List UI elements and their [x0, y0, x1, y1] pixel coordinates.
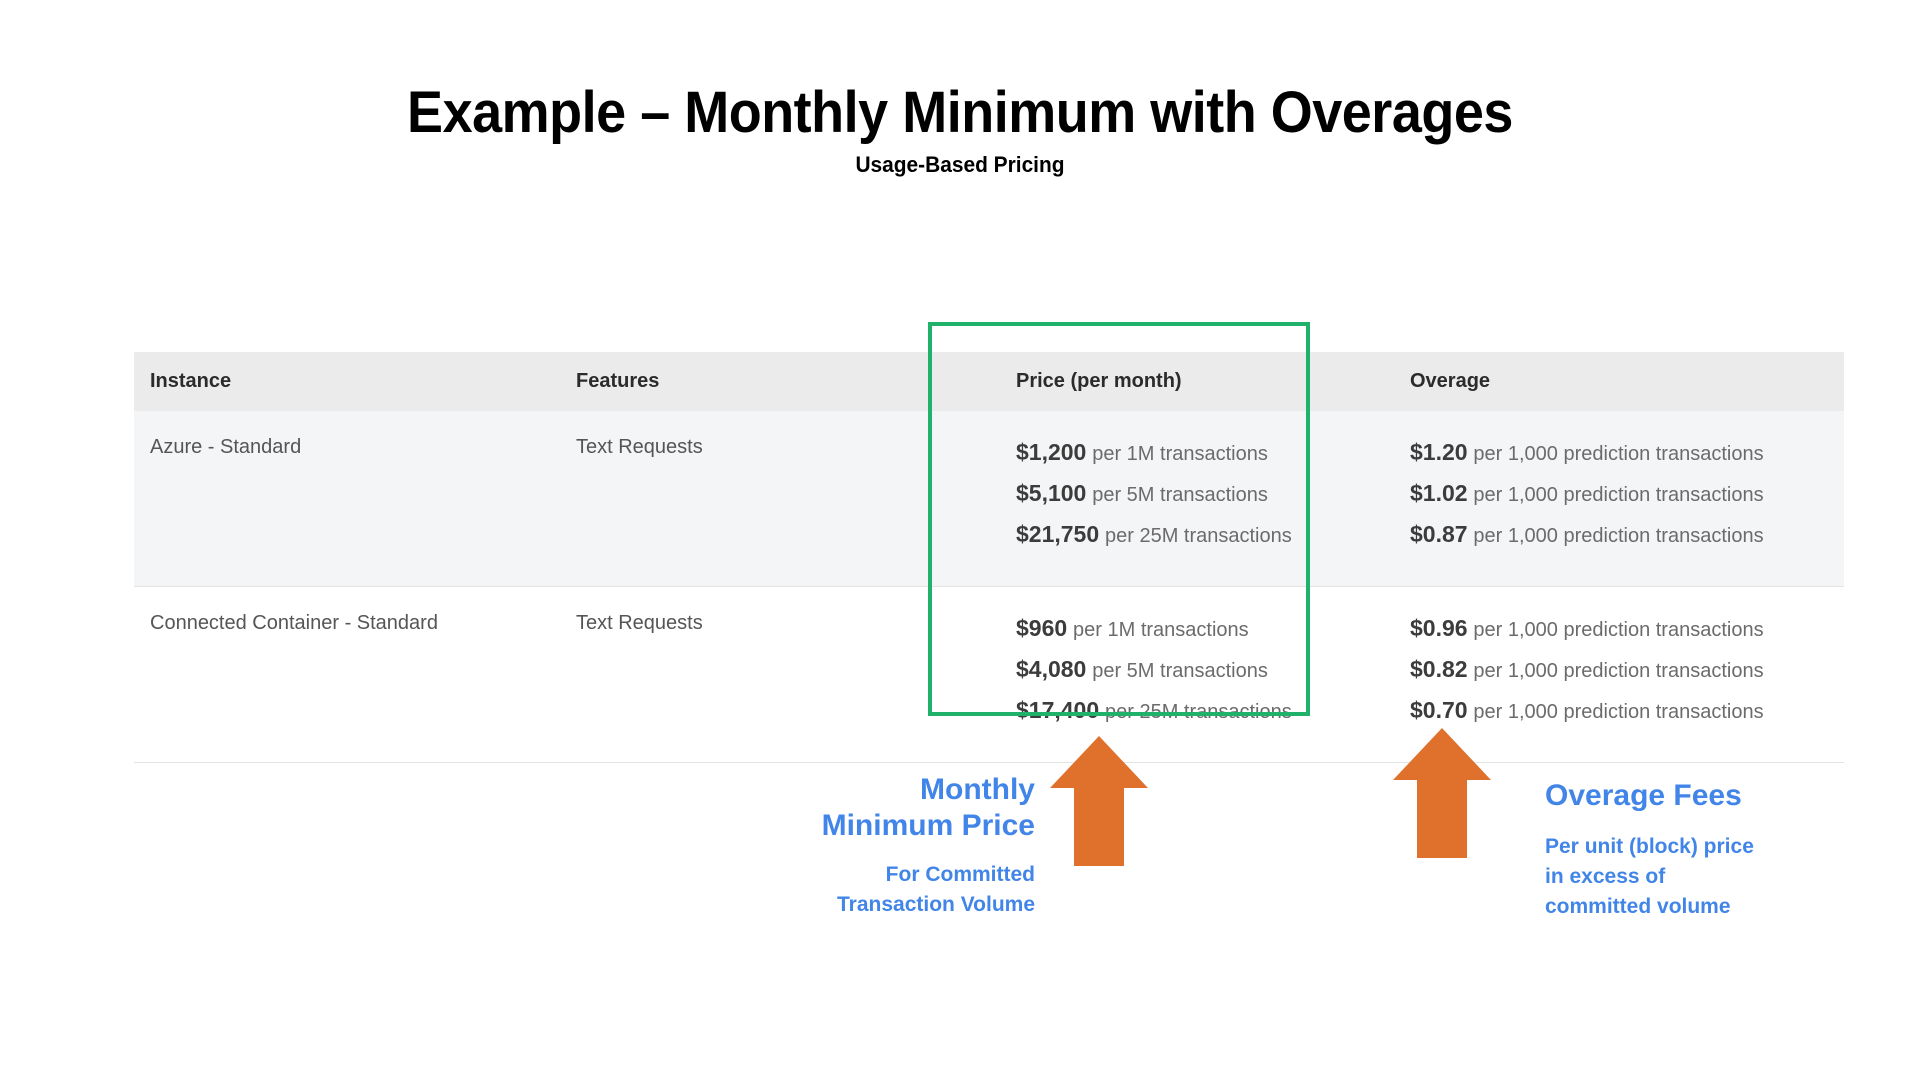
annotation-left-sub: For Committed Transaction Volume	[700, 860, 1035, 920]
annotation-right-sub-line2: in excess of	[1545, 862, 1875, 892]
price-amount: $5,100	[1016, 480, 1086, 506]
price-unit: per 1M transactions	[1092, 443, 1268, 465]
overage-amount: $1.20	[1410, 439, 1468, 465]
annotation-left-sub-line1: For Committed	[700, 860, 1035, 890]
title-block: Example – Monthly Minimum with Overages …	[0, 82, 1920, 178]
overage-amount: $0.82	[1410, 656, 1468, 682]
cell-features: Text Requests	[560, 587, 1000, 763]
overage-line: $0.87 per 1,000 prediction transactions	[1410, 515, 1844, 556]
annotation-left-heading: Monthly Minimum Price	[700, 772, 1035, 844]
price-unit: per 25M transactions	[1105, 525, 1292, 547]
overage-unit: per 1,000 prediction transactions	[1473, 484, 1763, 506]
price-line: $21,750 per 25M transactions	[1016, 515, 1394, 556]
features-value: Text Requests	[576, 612, 703, 634]
price-amount: $21,750	[1016, 521, 1099, 547]
instance-name: Azure - Standard	[150, 436, 301, 458]
annotation-right-heading: Overage Fees	[1545, 778, 1875, 814]
table-row: Connected Container - Standard Text Requ…	[134, 587, 1844, 763]
features-value: Text Requests	[576, 436, 703, 458]
overage-unit: per 1,000 prediction transactions	[1473, 660, 1763, 682]
overage-line: $0.82 per 1,000 prediction transactions	[1410, 650, 1844, 691]
annotation-left-heading-line1: Monthly	[700, 772, 1035, 808]
price-line: $5,100 per 5M transactions	[1016, 474, 1394, 515]
column-header-overage: Overage	[1394, 352, 1844, 411]
table-header: Instance Features Price (per month) Over…	[134, 352, 1844, 411]
annotation-right-sub: Per unit (block) price in excess of comm…	[1545, 832, 1875, 922]
overage-unit: per 1,000 prediction transactions	[1473, 701, 1763, 723]
annotation-left-heading-line2: Minimum Price	[700, 808, 1035, 844]
annotation-right-sub-line1: Per unit (block) price	[1545, 832, 1875, 862]
price-line: $4,080 per 5M transactions	[1016, 650, 1394, 691]
up-arrow-icon-overage	[1393, 728, 1491, 858]
table-body: Azure - Standard Text Requests $1,200 pe…	[134, 411, 1844, 763]
overage-line: $1.02 per 1,000 prediction transactions	[1410, 474, 1844, 515]
annotation-left-sub-line2: Transaction Volume	[700, 890, 1035, 920]
up-arrow-icon-price	[1050, 736, 1148, 866]
overage-unit: per 1,000 prediction transactions	[1473, 619, 1763, 641]
overage-unit: per 1,000 prediction transactions	[1473, 443, 1763, 465]
price-line: $960 per 1M transactions	[1016, 609, 1394, 650]
price-unit: per 1M transactions	[1073, 619, 1249, 641]
cell-price: $1,200 per 1M transactions $5,100 per 5M…	[1000, 411, 1394, 587]
column-header-price: Price (per month)	[1000, 352, 1394, 411]
page-title: Example – Monthly Minimum with Overages	[67, 82, 1853, 144]
page-subtitle: Usage-Based Pricing	[48, 152, 1872, 178]
column-header-features: Features	[560, 352, 1000, 411]
overage-line: $0.70 per 1,000 prediction transactions	[1410, 691, 1844, 732]
price-unit: per 25M transactions	[1105, 701, 1292, 723]
price-amount: $4,080	[1016, 656, 1086, 682]
price-amount: $960	[1016, 615, 1067, 641]
table-header-row: Instance Features Price (per month) Over…	[134, 352, 1844, 411]
annotation-overage-fees: Overage Fees Per unit (block) price in e…	[1545, 778, 1875, 922]
cell-instance: Connected Container - Standard	[134, 587, 560, 763]
overage-line: $1.20 per 1,000 prediction transactions	[1410, 433, 1844, 474]
price-line: $1,200 per 1M transactions	[1016, 433, 1394, 474]
overage-amount: $1.02	[1410, 480, 1468, 506]
column-header-instance: Instance	[134, 352, 560, 411]
cell-instance: Azure - Standard	[134, 411, 560, 587]
pricing-table: Instance Features Price (per month) Over…	[134, 352, 1844, 763]
price-amount: $17,400	[1016, 697, 1099, 723]
overage-amount: $0.96	[1410, 615, 1468, 641]
price-line: $17,400 per 25M transactions	[1016, 691, 1394, 732]
price-unit: per 5M transactions	[1092, 484, 1268, 506]
cell-overage: $1.20 per 1,000 prediction transactions …	[1394, 411, 1844, 587]
overage-line: $0.96 per 1,000 prediction transactions	[1410, 609, 1844, 650]
price-amount: $1,200	[1016, 439, 1086, 465]
cell-features: Text Requests	[560, 411, 1000, 587]
table-row: Azure - Standard Text Requests $1,200 pe…	[134, 411, 1844, 587]
annotation-monthly-minimum: Monthly Minimum Price For Committed Tran…	[700, 772, 1035, 920]
annotation-right-sub-line3: committed volume	[1545, 892, 1875, 922]
overage-amount: $0.87	[1410, 521, 1468, 547]
instance-name: Connected Container - Standard	[150, 612, 438, 634]
overage-amount: $0.70	[1410, 697, 1468, 723]
overage-unit: per 1,000 prediction transactions	[1473, 525, 1763, 547]
pricing-table-wrapper: Instance Features Price (per month) Over…	[134, 352, 1780, 763]
price-unit: per 5M transactions	[1092, 660, 1268, 682]
